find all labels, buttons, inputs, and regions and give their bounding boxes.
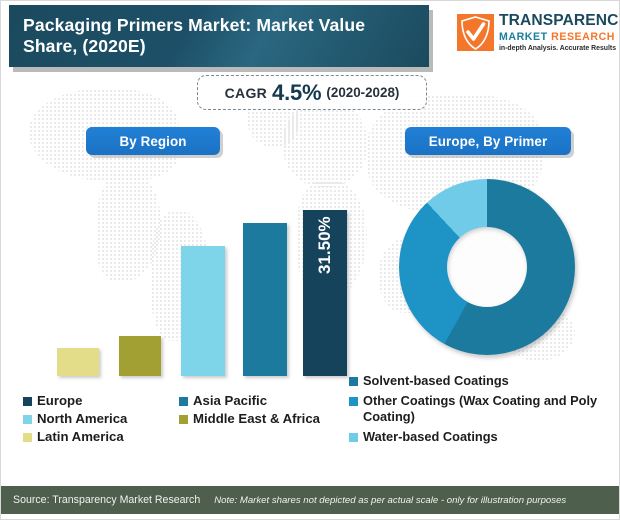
bar-latin-america <box>57 348 99 376</box>
legend-swatch-icon <box>179 415 188 424</box>
page-title: Packaging Primers Market: Market Value S… <box>9 5 429 67</box>
legend-regions-column-1: EuropeNorth AmericaLatin America <box>23 393 173 447</box>
bar-middle-east-africa <box>119 336 161 376</box>
footer-bar: Source: Transparency Market Research Not… <box>1 486 620 514</box>
bar-value-label: 31.50% <box>315 230 335 274</box>
page-title-text: Packaging Primers Market: Market Value S… <box>23 15 415 58</box>
legend-region-item: Europe <box>23 393 173 409</box>
checkmark-shield-icon <box>457 14 494 51</box>
legend-primer-item: Solvent-based Coatings <box>349 373 599 389</box>
legend-region-label: North America <box>37 411 127 427</box>
bar-europe: 31.50% <box>303 210 347 376</box>
logo-name: TRANSPARENCY <box>499 13 620 29</box>
footer-note: Note: Market shares not depicted as per … <box>214 495 566 506</box>
legend-region-item: Latin America <box>23 429 173 445</box>
legend-region-item: Middle East & Africa <box>179 411 359 427</box>
legend-primer: Solvent-based CoatingsOther Coatings (Wa… <box>349 373 599 448</box>
legend-primer-item: Other Coatings (Wax Coating and Poly Coa… <box>349 393 599 425</box>
legend-region-label: Latin America <box>37 429 124 445</box>
legend-swatch-icon <box>349 377 358 386</box>
legend-swatch-icon <box>23 433 32 442</box>
legend-primer-label: Solvent-based Coatings <box>363 373 509 389</box>
legend-primer-label: Other Coatings (Wax Coating and Poly Coa… <box>363 393 599 425</box>
legend-region-label: Europe <box>37 393 82 409</box>
infographic-root: Packaging Primers Market: Market Value S… <box>0 0 620 520</box>
bar-north-america <box>181 246 225 376</box>
legend-swatch-icon <box>23 415 32 424</box>
cagr-value: 4.5% <box>272 80 321 106</box>
footer-source: Source: Transparency Market Research <box>13 494 200 506</box>
legend-region-item: North America <box>23 411 173 427</box>
legend-primer-item: Water-based Coatings <box>349 429 599 445</box>
bar-chart: 31.50% <box>57 196 347 376</box>
legend-regions-column-2: Asia PacificMiddle East & Africa <box>179 393 359 429</box>
cagr-badge: CAGR 4.5% (2020-2028) <box>197 75 427 110</box>
bar-asia-pacific <box>243 223 287 376</box>
donut-chart <box>399 179 575 355</box>
cagr-label: CAGR <box>225 85 267 101</box>
legend-primer-label: Water-based Coatings <box>363 429 498 445</box>
legend-region-label: Middle East & Africa <box>193 411 320 427</box>
legend-swatch-icon <box>23 397 32 406</box>
logo-subname: MARKET RESEARCH <box>499 30 620 44</box>
logo-subname-research: RESEARCH <box>551 31 615 43</box>
section-header-by-region: By Region <box>86 127 220 155</box>
section-header-europe-by-primer: Europe, By Primer <box>405 127 571 155</box>
legend-swatch-icon <box>179 397 188 406</box>
logo-tagline: in-depth Analysis. Accurate Results <box>499 45 620 53</box>
legend-swatch-icon <box>349 397 358 406</box>
legend-region-item: Asia Pacific <box>179 393 359 409</box>
logo-subname-market: MARKET <box>499 31 548 43</box>
legend-region-label: Asia Pacific <box>193 393 267 409</box>
donut-center-hole <box>447 227 527 307</box>
cagr-period: (2020-2028) <box>326 85 399 100</box>
brand-logo: TRANSPARENCY MARKET RESEARCH in-depth An… <box>457 13 615 61</box>
legend-swatch-icon <box>349 433 358 442</box>
